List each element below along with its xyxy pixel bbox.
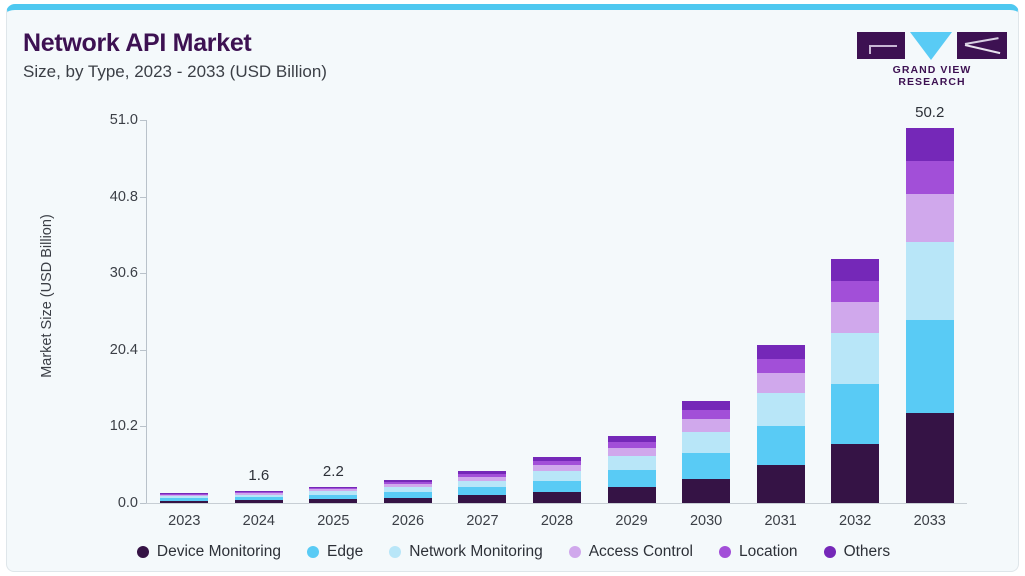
x-tick-label: 2025: [317, 513, 349, 529]
bar-segment-access-control[interactable]: [608, 448, 656, 456]
bar-segment-device-monitoring[interactable]: [160, 501, 208, 503]
logo-wordmark: GRAND VIEW RESEARCH: [857, 64, 1007, 88]
chart-header: Network API Market Size, by Type, 2023 -…: [7, 10, 1018, 98]
chart-legend: Device MonitoringEdgeNetwork MonitoringA…: [7, 543, 1019, 561]
bar-2027[interactable]: [458, 471, 506, 503]
legend-swatch-icon: [389, 546, 401, 558]
bar-segment-others[interactable]: [682, 401, 730, 410]
legend-swatch-icon: [569, 546, 581, 558]
bar-segment-device-monitoring[interactable]: [906, 413, 954, 503]
legend-item-network-monitoring[interactable]: Network Monitoring: [389, 543, 543, 561]
y-tick-mark: [140, 350, 146, 351]
bar-segment-edge[interactable]: [458, 487, 506, 495]
logo-marks: [857, 32, 1007, 60]
bar-2032[interactable]: [831, 259, 879, 503]
y-tick-mark: [140, 426, 146, 427]
x-tick-label: 2024: [243, 513, 275, 529]
bar-2026[interactable]: [384, 480, 432, 503]
legend-label: Device Monitoring: [157, 543, 281, 561]
logo-left-rect-icon: [857, 32, 905, 59]
legend-swatch-icon: [137, 546, 149, 558]
x-axis-line: [146, 503, 967, 504]
bar-segment-edge[interactable]: [831, 384, 879, 445]
bar-segment-location[interactable]: [757, 359, 805, 373]
y-tick-mark: [140, 503, 146, 504]
page-subtitle: Size, by Type, 2023 - 2033 (USD Billion): [23, 62, 327, 82]
bar-segment-access-control[interactable]: [757, 373, 805, 393]
bar-segment-edge[interactable]: [608, 470, 656, 487]
bar-segment-location[interactable]: [831, 281, 879, 302]
bar-segment-access-control[interactable]: [831, 302, 879, 333]
x-tick-label: 2031: [764, 513, 796, 529]
bar-segment-device-monitoring[interactable]: [384, 498, 432, 503]
logo-triangle-icon: [910, 32, 952, 60]
y-axis-line: [146, 120, 147, 503]
bar-segment-others[interactable]: [831, 259, 879, 281]
legend-label: Others: [844, 543, 891, 561]
bar-segment-network-monitoring[interactable]: [682, 432, 730, 453]
bar-value-label: 2.2: [323, 463, 344, 480]
legend-item-device-monitoring[interactable]: Device Monitoring: [137, 543, 281, 561]
legend-swatch-icon: [824, 546, 836, 558]
legend-item-edge[interactable]: Edge: [307, 543, 363, 561]
bar-segment-device-monitoring[interactable]: [757, 465, 805, 503]
x-tick-label: 2033: [914, 513, 946, 529]
bar-segment-network-monitoring[interactable]: [906, 242, 954, 320]
y-axis-title: Market Size (USD Billion): [39, 161, 55, 431]
bar-value-label: 50.2: [915, 104, 944, 121]
x-tick-label: 2029: [615, 513, 647, 529]
x-tick-label: 2032: [839, 513, 871, 529]
bar-2028[interactable]: [533, 457, 581, 503]
legend-swatch-icon: [719, 546, 731, 558]
chart-card: Network API Market Size, by Type, 2023 -…: [6, 4, 1019, 572]
bar-segment-others[interactable]: [757, 345, 805, 359]
bar-segment-network-monitoring[interactable]: [533, 471, 581, 481]
grand-view-research-logo: GRAND VIEW RESEARCH: [857, 32, 1007, 80]
y-tick-label: 51.0: [110, 112, 138, 128]
bar-2030[interactable]: [682, 401, 730, 503]
bar-value-label: 1.6: [248, 467, 269, 484]
legend-label: Location: [739, 543, 798, 561]
bar-segment-others[interactable]: [906, 128, 954, 162]
stacked-bar-chart: Market Size (USD Billion) 0.010.220.430.…: [7, 98, 1019, 572]
bar-segment-network-monitoring[interactable]: [831, 333, 879, 384]
legend-label: Access Control: [589, 543, 693, 561]
logo-corner-vertical: [869, 45, 871, 54]
legend-item-location[interactable]: Location: [719, 543, 798, 561]
legend-item-others[interactable]: Others: [824, 543, 891, 561]
bar-segment-device-monitoring[interactable]: [533, 492, 581, 503]
bar-segment-edge[interactable]: [906, 320, 954, 413]
legend-item-access-control[interactable]: Access Control: [569, 543, 693, 561]
y-tick-mark: [140, 197, 146, 198]
legend-swatch-icon: [307, 546, 319, 558]
page-title: Network API Market: [23, 29, 251, 58]
bar-segment-location[interactable]: [906, 161, 954, 194]
bar-2023[interactable]: [160, 493, 208, 503]
bar-segment-network-monitoring[interactable]: [608, 456, 656, 470]
plot-area: 0.010.220.430.640.851.0 20231.620242.220…: [147, 120, 967, 503]
y-tick-mark: [140, 120, 146, 121]
y-tick-label: 20.4: [110, 342, 138, 358]
bar-2024[interactable]: 1.6: [235, 491, 283, 503]
y-tick-label: 10.2: [110, 418, 138, 434]
bar-segment-access-control[interactable]: [906, 194, 954, 241]
bar-segment-access-control[interactable]: [682, 419, 730, 432]
bar-segment-edge[interactable]: [682, 453, 730, 478]
bar-2025[interactable]: 2.2: [309, 487, 357, 503]
bar-segment-device-monitoring[interactable]: [458, 495, 506, 503]
bar-2031[interactable]: [757, 345, 805, 503]
bar-2029[interactable]: [608, 436, 656, 503]
logo-corner-horizontal: [869, 45, 897, 47]
bar-segment-network-monitoring[interactable]: [757, 393, 805, 426]
y-tick-label: 30.6: [110, 265, 138, 281]
bar-segment-device-monitoring[interactable]: [309, 499, 357, 503]
bar-segment-device-monitoring[interactable]: [608, 487, 656, 503]
x-tick-label: 2026: [392, 513, 424, 529]
x-tick-label: 2030: [690, 513, 722, 529]
bar-2033[interactable]: 50.2: [906, 128, 954, 503]
bar-segment-network-monitoring[interactable]: [458, 481, 506, 488]
x-tick-label: 2028: [541, 513, 573, 529]
y-tick-label: 0.0: [118, 495, 138, 511]
legend-label: Network Monitoring: [409, 543, 543, 561]
x-tick-label: 2023: [168, 513, 200, 529]
y-tick-label: 40.8: [110, 189, 138, 205]
bar-segment-edge[interactable]: [533, 481, 581, 492]
bar-segment-location[interactable]: [682, 410, 730, 419]
bar-segment-device-monitoring[interactable]: [235, 500, 283, 503]
bar-segment-device-monitoring[interactable]: [831, 444, 879, 503]
bar-segment-device-monitoring[interactable]: [682, 479, 730, 503]
x-tick-label: 2027: [466, 513, 498, 529]
legend-label: Edge: [327, 543, 363, 561]
y-tick-mark: [140, 273, 146, 274]
bar-segment-edge[interactable]: [757, 426, 805, 465]
